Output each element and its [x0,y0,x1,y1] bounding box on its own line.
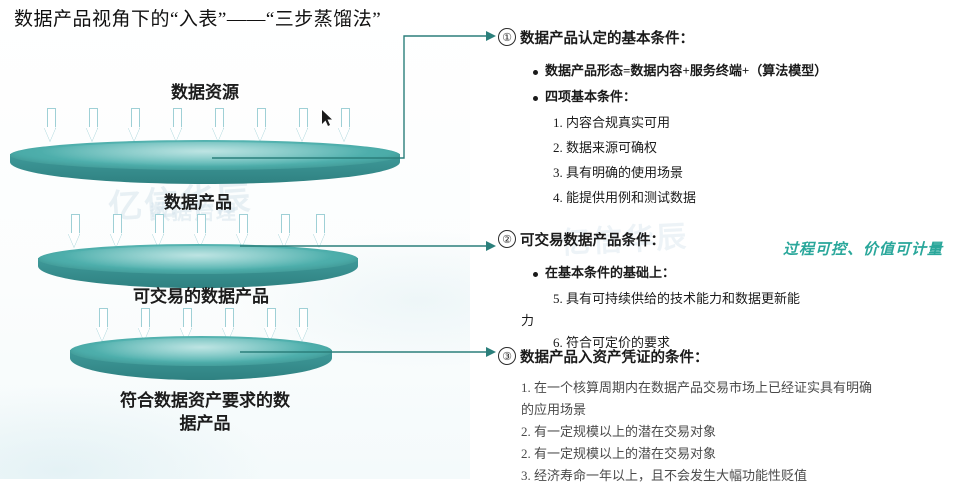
section-2-heading: 可交易数据产品条件： [520,229,665,250]
section-1-number: ① [498,28,516,46]
section-1-heading: 数据产品认定的基本条件： [520,27,694,48]
diagram-final-label: 符合数据资产要求的数 据产品 [55,390,355,436]
section-3-item-3: 2. 有一定规模以上的潜在交易对象 [521,443,716,462]
diagram-stage-2: 数据产品 [38,188,358,293]
page-title: 数据产品视角下的“入表”——“三步蒸馏法” [14,4,381,31]
section-1-bullet-1: 数据产品形态=数据内容+服务终端+（算法模型） [533,60,827,79]
section-1-item-3: 3. 具有明确的使用场景 [553,162,683,181]
side-note: 过程可控、价值可计量 [783,238,943,259]
section-1-item-2: 2. 数据来源可确权 [553,137,657,156]
section-1-item-1: 1. 内容合规真实可用 [553,112,670,131]
section-2-bullet-1: 在基本条件的基础上： [533,262,675,281]
section-3-item-2: 2. 有一定规模以上的潜在交易对象 [521,421,716,440]
bullet-dot-icon [533,96,538,101]
section-3-heading: 数据产品入资产凭证的条件： [520,346,709,367]
section-2-item-1: 5. 具有可持续供给的技术能力和数据更新能 [553,288,800,307]
section-1-item-4: 4. 能提供用例和测试数据 [553,187,696,206]
stage-1-disk [10,140,400,184]
bullet-dot-icon [533,70,538,75]
diagram-stage-3: 可交易的数据产品 [70,282,332,387]
diagram-stage-1: 数据资源 [10,78,400,188]
right-content-panel: ① 数据产品认定的基本条件： 数据产品形态=数据内容+服务终端+（算法模型） 四… [498,0,953,479]
section-3-item-1: 1. 在一个核算周期内在数据产品交易市场上已经证实具有明确 [521,377,872,396]
section-2-item-1-wrap: 力 [521,310,534,329]
final-label-line-1: 符合数据资产要求的数 [55,390,355,413]
section-1-bullet-2: 四项基本条件： [533,86,636,105]
stage-3-disk [70,336,332,380]
stage-3-label: 可交易的数据产品 [70,282,332,307]
section-2-number: ② [498,230,516,248]
stage-2-label: 数据产品 [38,188,358,213]
section-3-item-1-wrap: 的应用场景 [521,399,586,418]
final-label-line-2: 据产品 [55,413,355,436]
section-3-item-4: 3. 经济寿命一年以上，且不会发生大幅功能性贬值 [521,465,807,484]
section-3-number: ③ [498,347,516,365]
bullet-dot-icon [533,272,538,277]
stage-1-label: 数据资源 [10,78,400,103]
